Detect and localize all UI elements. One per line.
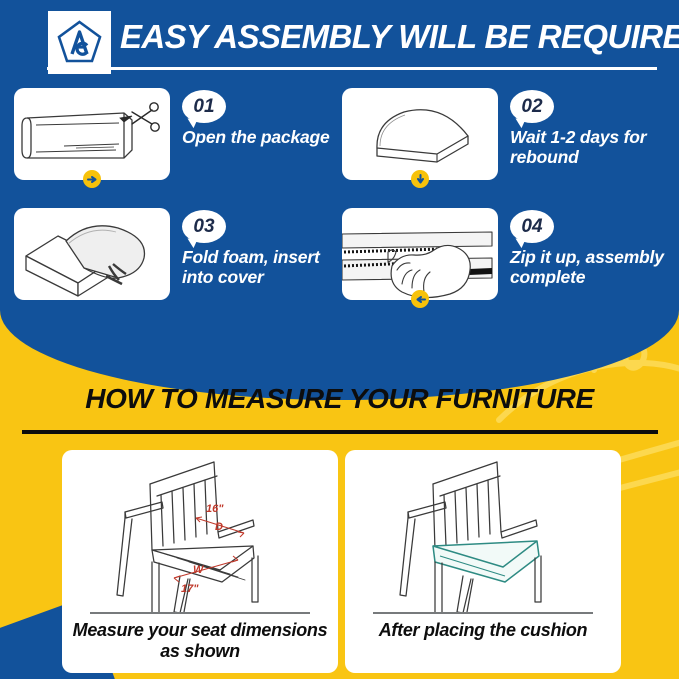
step-2: 02 Wait 1-2 days for rebound bbox=[342, 88, 667, 193]
step-2-illustration-card bbox=[342, 88, 498, 180]
foam-cushion-icon bbox=[342, 88, 498, 180]
step-1-label: Open the package bbox=[182, 128, 340, 148]
chair-with-cushion-icon bbox=[345, 450, 621, 613]
panel-left-divider bbox=[90, 612, 310, 614]
step-4: 04 Zip it up, assembly complete bbox=[342, 208, 667, 313]
step-2-number: 02 bbox=[510, 90, 554, 123]
fold-foam-into-cover-icon bbox=[14, 208, 170, 300]
step-4-number: 04 bbox=[510, 210, 554, 243]
panel-measure-dimensions: 16" D W 17" Measure your seat dimensions… bbox=[62, 450, 338, 673]
infographic-page: EASY ASSEMBLY WILL BE REQUIRED bbox=[0, 0, 679, 679]
pentagon-house-a-logo-icon bbox=[48, 11, 111, 74]
step-4-arrow-badge bbox=[411, 290, 429, 308]
step-4-text: 04 Zip it up, assembly complete bbox=[510, 208, 668, 287]
arrow-left-icon bbox=[415, 294, 426, 305]
step-1-illustration-card bbox=[14, 88, 170, 180]
step-3-number: 03 bbox=[182, 210, 226, 243]
step-1-number: 01 bbox=[182, 90, 226, 123]
step-3-label: Fold foam, insert into cover bbox=[182, 248, 340, 287]
measure-divider bbox=[22, 430, 658, 434]
step-2-label: Wait 1-2 days for rebound bbox=[510, 128, 668, 167]
page-title: EASY ASSEMBLY WILL BE REQUIRED bbox=[120, 18, 679, 56]
panel-after-cushion: After placing the cushion bbox=[345, 450, 621, 673]
rolled-package-with-scissors-icon bbox=[14, 88, 170, 180]
step-3: 03 Fold foam, insert into cover bbox=[14, 208, 339, 313]
step-1-arrow-badge bbox=[83, 170, 101, 188]
chair-with-dimensions-icon: 16" D W 17" bbox=[62, 450, 338, 613]
measure-panels: 16" D W 17" Measure your seat dimensions… bbox=[0, 450, 679, 679]
dimension-label-width-letter: W bbox=[193, 564, 205, 576]
step-1-text: 01 Open the package bbox=[182, 88, 340, 148]
step-3-illustration-card bbox=[14, 208, 170, 300]
step-2-arrow-badge bbox=[411, 170, 429, 188]
dimension-label-width-value: 17" bbox=[181, 583, 199, 595]
step-4-illustration-card bbox=[342, 208, 498, 300]
arrow-right-icon bbox=[87, 174, 98, 185]
dimension-label-depth-letter: D bbox=[215, 521, 223, 533]
panel-right-caption: After placing the cushion bbox=[353, 620, 613, 641]
step-1: 01 Open the package bbox=[14, 88, 339, 193]
header-divider bbox=[47, 67, 657, 70]
step-3-text: 03 Fold foam, insert into cover bbox=[182, 208, 340, 287]
header: EASY ASSEMBLY WILL BE REQUIRED bbox=[0, 0, 679, 80]
step-2-text: 02 Wait 1-2 days for rebound bbox=[510, 88, 668, 167]
panel-left-caption: Measure your seat dimensions as shown bbox=[70, 620, 330, 662]
panel-right-divider bbox=[373, 612, 593, 614]
dimension-label-depth-value: 16" bbox=[206, 503, 224, 515]
hand-zipping-cover-icon bbox=[342, 208, 498, 300]
arrow-down-icon bbox=[415, 174, 426, 185]
assembly-steps: 01 Open the package bbox=[0, 88, 679, 313]
step-4-label: Zip it up, assembly complete bbox=[510, 248, 668, 287]
measure-section-title: HOW TO MEASURE YOUR FURNITURE bbox=[0, 383, 679, 415]
